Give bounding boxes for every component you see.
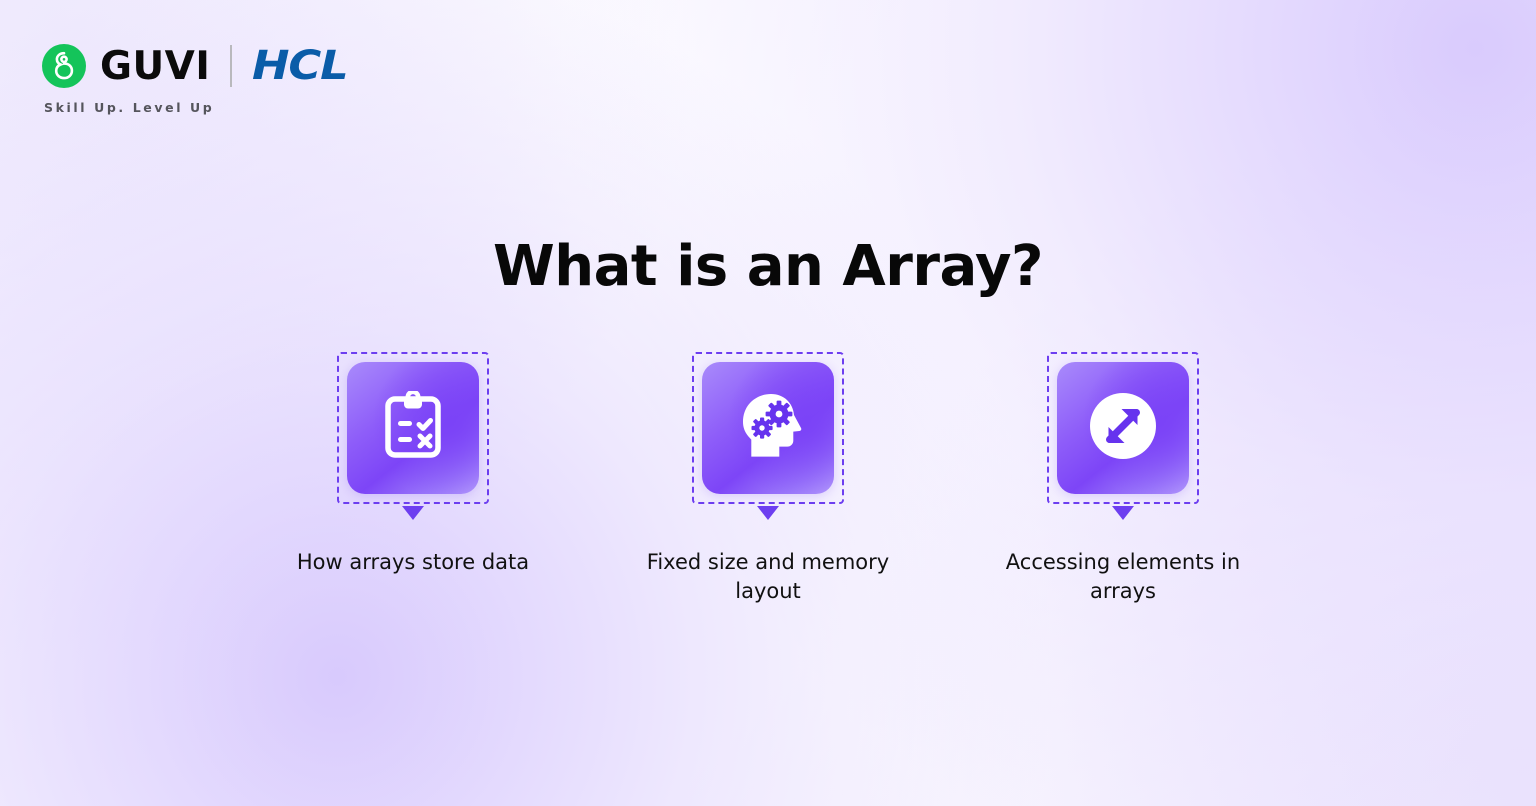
icon-tile-wrapper xyxy=(692,352,844,504)
brand-lockup: GUVI HCL Skill Up. Level Up xyxy=(42,44,338,115)
page-title: What is an Array? xyxy=(0,236,1536,298)
icon-tile xyxy=(702,362,834,494)
clipboard-checklist-icon xyxy=(380,391,446,466)
guvi-g-mark-icon xyxy=(42,44,86,88)
tile-pointer xyxy=(1112,506,1134,520)
card-caption: Fixed size and memory layout xyxy=(643,548,893,605)
icon-tile-wrapper xyxy=(337,352,489,504)
brand-tagline: Skill Up. Level Up xyxy=(44,100,214,115)
cards-row: How arrays store data xyxy=(268,352,1268,605)
card-caption: How arrays store data xyxy=(297,548,529,577)
tile-pointer xyxy=(757,506,779,520)
diagonal-resize-arrow-icon xyxy=(1084,387,1162,470)
card-accessing-elements-in-arrays: Accessing elements in arrays xyxy=(978,352,1268,605)
hcl-wordmark: HCL xyxy=(252,46,348,86)
card-fixed-size-memory-layout: Fixed size and memory layout xyxy=(623,352,913,605)
head-with-gears-icon xyxy=(731,390,805,467)
card-how-arrays-store-data: How arrays store data xyxy=(268,352,558,577)
icon-tile-wrapper xyxy=(1047,352,1199,504)
tile-pointer xyxy=(402,506,424,520)
brand-divider xyxy=(230,45,232,87)
icon-tile xyxy=(347,362,479,494)
slide-canvas: GUVI HCL Skill Up. Level Up What is an A… xyxy=(0,0,1536,806)
brand-logo-row: GUVI HCL xyxy=(42,44,338,88)
guvi-wordmark: GUVI xyxy=(100,47,210,86)
icon-tile xyxy=(1057,362,1189,494)
card-caption: Accessing elements in arrays xyxy=(998,548,1248,605)
